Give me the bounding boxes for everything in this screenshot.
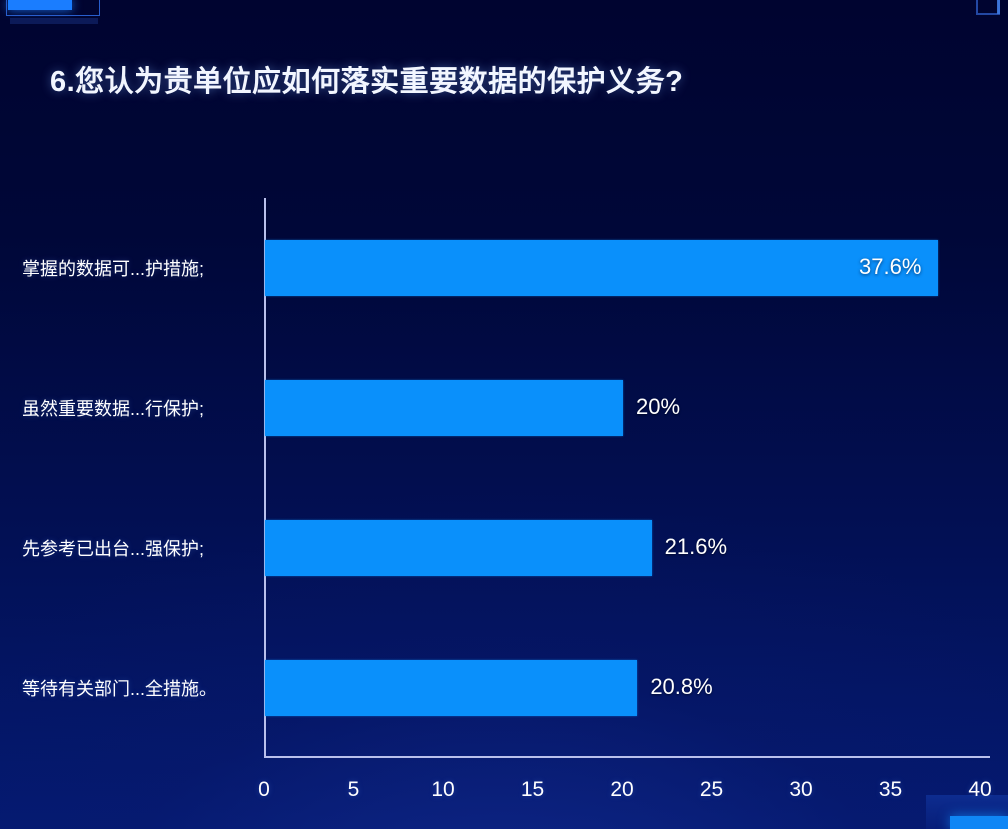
chart-plot-area: 37.6%20%21.6%20.8%	[264, 198, 980, 758]
x-tick-35: 35	[879, 778, 902, 802]
bar-4[interactable]	[265, 660, 637, 716]
category-label-2: 虽然重要数据...行保护;	[22, 395, 204, 421]
bar-value-label-4: 20.8%	[650, 674, 712, 700]
category-label-1: 掌握的数据可...护措施;	[22, 255, 204, 281]
bottom-right-accent-bar	[950, 816, 1008, 829]
bar-value-label-3: 21.6%	[665, 534, 727, 560]
x-tick-30: 30	[789, 778, 812, 802]
x-tick-15: 15	[521, 778, 544, 802]
category-label-3: 先参考已出台...强保护;	[22, 535, 204, 561]
x-tick-0: 0	[258, 778, 270, 802]
x-tick-25: 25	[700, 778, 723, 802]
category-axis-labels: 掌握的数据可...护措施;虽然重要数据...行保护;先参考已出台...强保护;等…	[0, 198, 250, 758]
x-tick-40: 40	[968, 778, 991, 802]
value-axis-ticks: 0510152025303540	[264, 778, 990, 808]
top-left-faint-bar	[10, 18, 98, 24]
x-tick-5: 5	[348, 778, 360, 802]
category-label-4: 等待有关部门...全措施。	[22, 675, 217, 701]
x-tick-20: 20	[610, 778, 633, 802]
top-left-frame-decoration	[6, 0, 100, 16]
page-title: 6.您认为贵单位应如何落实重要数据的保护义务?	[50, 58, 683, 100]
top-right-accent-line	[997, 0, 1000, 14]
slide-canvas: 6.您认为贵单位应如何落实重要数据的保护义务? 掌握的数据可...护措施;虽然重…	[0, 0, 1008, 829]
x-tick-10: 10	[431, 778, 454, 802]
bar-value-label-2: 20%	[636, 394, 680, 420]
x-axis-line	[264, 756, 990, 758]
bar-1[interactable]	[265, 240, 938, 296]
bar-value-label-1: 37.6%	[859, 254, 921, 280]
bar-2[interactable]	[265, 380, 623, 436]
bar-3[interactable]	[265, 520, 652, 576]
